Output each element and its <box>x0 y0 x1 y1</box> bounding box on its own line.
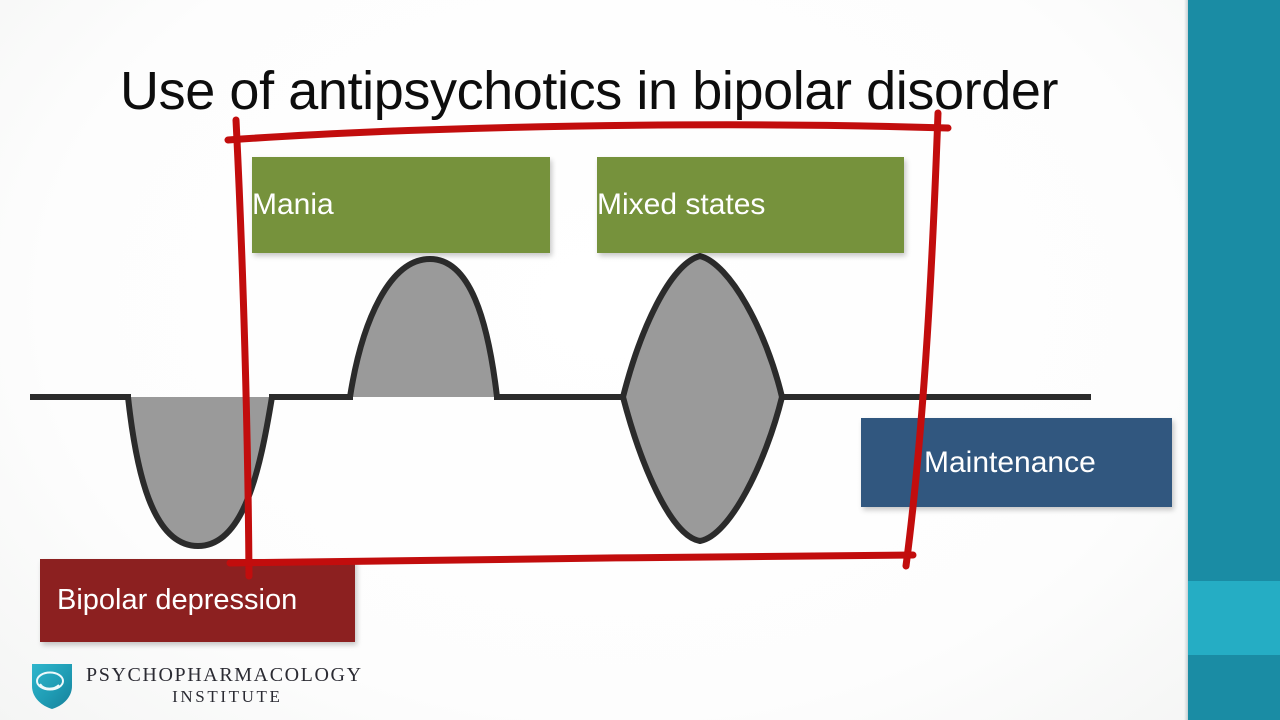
label-box-mania: Mania <box>252 157 550 253</box>
label-box-mixed-states: Mixed states <box>597 157 904 253</box>
logo-line-2: INSTITUTE <box>86 687 363 706</box>
logo-line-1: PSYCHOPHARMACOLOGY <box>86 664 363 686</box>
brand-logo: PSYCHOPHARMACOLOGY INSTITUTE <box>30 660 363 710</box>
depression-trough-shape <box>128 397 272 546</box>
slide-canvas: Use of antipsychotics in bipolar disorde… <box>0 0 1280 720</box>
shield-swirl-icon <box>30 660 74 710</box>
mixed-states-shape <box>623 256 782 541</box>
label-mixed-states-text: Mixed states <box>597 188 904 222</box>
label-maintenance-text: Maintenance <box>924 446 1172 480</box>
label-mania-text: Mania <box>252 188 550 222</box>
label-bipolar-depression-text: Bipolar depression <box>57 584 355 617</box>
label-box-bipolar-depression: Bipolar depression <box>40 559 355 642</box>
mania-peak-shape <box>350 259 497 397</box>
logo-wordmark: PSYCHOPHARMACOLOGY INSTITUTE <box>86 664 363 705</box>
label-box-maintenance: Maintenance <box>861 418 1172 507</box>
